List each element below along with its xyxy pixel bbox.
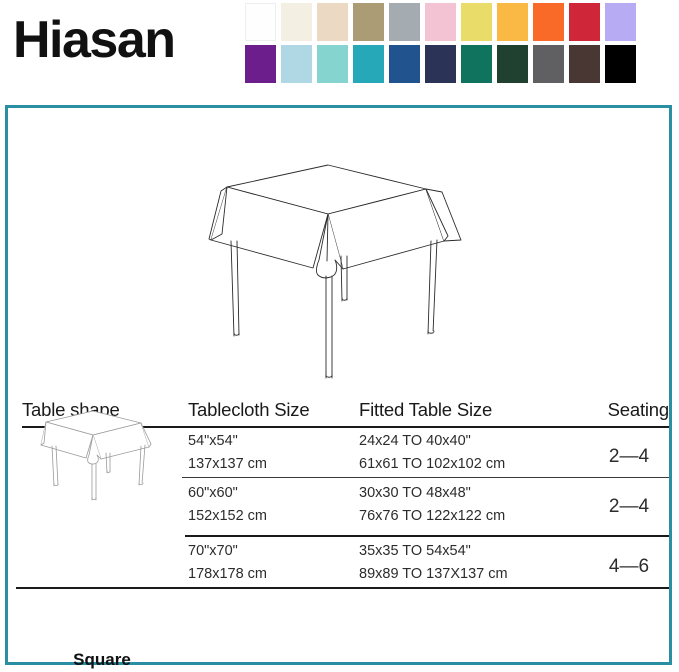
swatch-red[interactable] xyxy=(569,3,600,41)
cloth-size-cm: 137x137 cm xyxy=(188,453,358,476)
swatch-charcoal-grey[interactable] xyxy=(533,45,564,83)
page-header: Hiasan xyxy=(0,0,679,95)
cloth-size-cm: 152x152 cm xyxy=(188,505,358,528)
cloth-size-inches: 70"x70" xyxy=(188,540,358,563)
fitted-size-inches: 30x30 TO 48x48" xyxy=(359,482,589,505)
square-table-illustration xyxy=(178,156,478,381)
swatch-forest-green[interactable] xyxy=(497,45,528,83)
shape-label-square: Square xyxy=(22,650,182,670)
swatch-teal[interactable] xyxy=(353,45,384,83)
swatch-gold[interactable] xyxy=(497,3,528,41)
fitted-size-inches: 35x35 TO 54x54" xyxy=(359,540,589,563)
swatch-aqua[interactable] xyxy=(317,45,348,83)
cell-seating: 4—6 xyxy=(589,540,669,578)
table-row: 70"x70" 178x178 cm 35x35 TO 54x54" 89x89… xyxy=(16,540,669,587)
fitted-size-cm: 61x61 TO 102x102 cm xyxy=(359,453,589,476)
column-header-fitted-table-size: Fitted Table Size xyxy=(359,399,589,421)
swatch-taupe[interactable] xyxy=(353,3,384,41)
swatch-yellow[interactable] xyxy=(461,3,492,41)
swatch-navy[interactable] xyxy=(425,45,456,83)
swatch-row-dark xyxy=(245,45,679,83)
size-spec-table: Table shape Tablecloth Size Fitted Table… xyxy=(16,385,669,585)
content-panel: Table shape Tablecloth Size Fitted Table… xyxy=(5,105,672,665)
swatch-pink[interactable] xyxy=(425,3,456,41)
seating-value: 4—6 xyxy=(589,540,669,578)
cell-fitted-table-size: 30x30 TO 48x48" 76x76 TO 122x122 cm xyxy=(359,482,589,528)
swatch-grey[interactable] xyxy=(389,3,420,41)
cell-tablecloth-size: 70"x70" 178x178 cm xyxy=(188,540,358,586)
table-row: 60"x60" 152x152 cm 30x30 TO 48x48" 76x76… xyxy=(16,482,669,535)
table-row-separator xyxy=(182,477,669,478)
table-bottom-rule xyxy=(16,587,669,589)
table-row-separator xyxy=(185,535,669,537)
seating-value: 2—4 xyxy=(589,482,669,518)
cell-fitted-table-size: 24x24 TO 40x40" 61x61 TO 102x102 cm xyxy=(359,430,589,476)
swatch-beige[interactable] xyxy=(317,3,348,41)
swatch-dark-brown[interactable] xyxy=(569,45,600,83)
cloth-size-cm: 178x178 cm xyxy=(188,563,358,586)
column-header-seating: Seating xyxy=(572,399,669,421)
cell-seating: 2—4 xyxy=(589,482,669,518)
fitted-size-cm: 76x76 TO 122x122 cm xyxy=(359,505,589,528)
swatch-denim-blue[interactable] xyxy=(389,45,420,83)
fitted-size-inches: 24x24 TO 40x40" xyxy=(359,430,589,453)
brand-logo: Hiasan xyxy=(13,11,175,69)
swatch-powder-blue[interactable] xyxy=(281,45,312,83)
swatch-orange[interactable] xyxy=(533,3,564,41)
swatch-emerald[interactable] xyxy=(461,45,492,83)
swatch-black[interactable] xyxy=(605,45,636,83)
swatch-ivory[interactable] xyxy=(281,3,312,41)
cell-fitted-table-size: 35x35 TO 54x54" 89x89 TO 137X137 cm xyxy=(359,540,589,586)
table-row: 54"x54" 137x137 cm 24x24 TO 40x40" 61x61… xyxy=(16,430,669,477)
cell-tablecloth-size: 54"x54" 137x137 cm xyxy=(188,430,358,476)
color-swatch-panel xyxy=(245,0,679,88)
swatch-lavender[interactable] xyxy=(605,3,636,41)
swatch-purple[interactable] xyxy=(245,45,276,83)
cell-tablecloth-size: 60"x60" 152x152 cm xyxy=(188,482,358,528)
fitted-size-cm: 89x89 TO 137X137 cm xyxy=(359,563,589,586)
seating-value: 2—4 xyxy=(589,430,669,468)
column-header-tablecloth-size: Tablecloth Size xyxy=(188,399,358,421)
cloth-size-inches: 60"x60" xyxy=(188,482,358,505)
cell-seating: 2—4 xyxy=(589,430,669,468)
swatch-white[interactable] xyxy=(245,3,276,41)
cloth-size-inches: 54"x54" xyxy=(188,430,358,453)
swatch-row-light xyxy=(245,3,679,41)
